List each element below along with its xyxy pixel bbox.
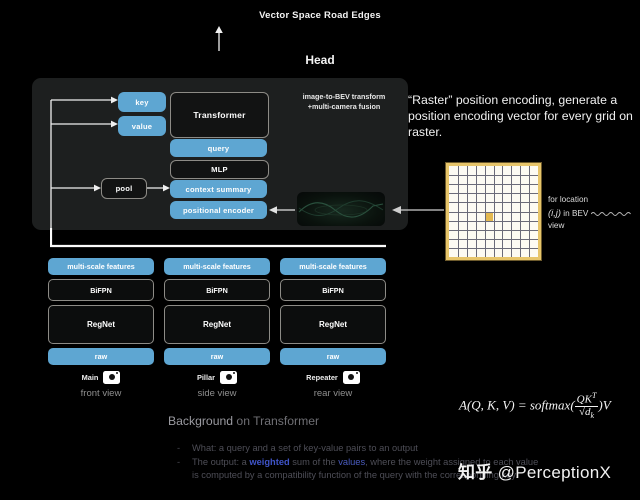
formula-lhs: A(Q, K, V) = softmax( [459,397,575,412]
output-label: Vector Space Road Edges [0,10,640,21]
squiggle-underline-icon [591,208,635,220]
view-name: side view [164,388,270,399]
camera-column-pillar: multi-scale features BiFPN RegNet raw Pi… [164,258,270,399]
cell-bifpn[interactable]: BiFPN [280,279,386,301]
grid-line-horizontal [449,184,538,185]
cell-regnet[interactable]: RegNet [280,305,386,344]
bullet-2-text-b: sum of the [290,457,339,467]
watermark-handle: @PerceptionX [498,463,611,482]
cell-regnet[interactable]: RegNet [48,305,154,344]
formula-fraction: QKT √dk [575,392,599,421]
formula-den-subscript: k [591,411,595,420]
bullet-marker: - [177,456,180,470]
camera-icon [103,371,120,384]
cell-multi-scale-features[interactable]: multi-scale features [164,258,270,275]
location-line1: for location [548,195,588,204]
location-ij: (i,j) [548,207,561,218]
watermark-zhihu: 知乎 [458,463,493,482]
node-positional-encoder[interactable]: positional encoder [170,201,267,219]
formula-denominator: √dk [575,406,599,421]
bullet-2-text-a: The output: a [192,457,249,467]
node-pool[interactable]: pool [101,178,147,199]
attention-formula: A(Q, K, V) = softmax( QKT √dk )V [459,392,611,421]
camera-row: Main [48,369,154,385]
node-query[interactable]: query [170,139,267,157]
cell-regnet[interactable]: RegNet [164,305,270,344]
watermark: 知乎 @PerceptionX [458,458,611,483]
grid-line-horizontal [449,175,538,176]
location-inbev: in BEV [563,209,588,218]
cell-raw[interactable]: raw [164,348,270,365]
cell-multi-scale-features[interactable]: multi-scale features [48,258,154,275]
cell-raw[interactable]: raw [280,348,386,365]
formula-rhs: )V [598,397,610,412]
grid-line-horizontal [449,212,538,213]
cell-multi-scale-features[interactable]: multi-scale features [280,258,386,275]
camera-icon [220,371,237,384]
grid-line-horizontal [449,239,538,240]
bullet-1: - What: a query and a set of key-value p… [192,442,640,456]
camera-name: Pillar [197,373,215,382]
up-arrow-icon [0,26,640,52]
node-value[interactable]: value [118,116,166,136]
camera-icon [343,371,360,384]
camera-column-repeater: multi-scale features BiFPN RegNet raw Re… [280,258,386,399]
grid-line-horizontal [449,202,538,203]
grid-line-horizontal [449,193,538,194]
formula-num-superscript: T [592,391,596,400]
slide-title-rest: on Transformer [233,414,319,428]
bullet-2-highlight-values: values [338,457,365,467]
view-name: front view [48,388,154,399]
location-line3: view [548,221,564,230]
camera-column-main: multi-scale features BiFPN RegNet raw Ma… [48,258,154,399]
node-key[interactable]: key [118,92,166,112]
location-annotation: for location (i,j) in BEV view [548,194,640,232]
bullet-2-highlight-weighted: weighted [249,457,289,467]
grid-line-horizontal [449,221,538,222]
slide-canvas: Vector Space Road Edges Head image-to-BE… [0,0,640,500]
slide-title-bold: Background [168,414,233,428]
node-mlp[interactable]: MLP [170,160,269,179]
grid-line-horizontal [449,248,538,249]
bev-raster-grid [446,163,541,260]
camera-row: Repeater [280,369,386,385]
formula-numerator: QKT [575,392,599,406]
panel-caption: image-to-BEV transform +multi-camera fus… [283,92,405,111]
cell-bifpn[interactable]: BiFPN [164,279,270,301]
node-context-summary[interactable]: context summary [170,180,267,198]
camera-row: Pillar [164,369,270,385]
bev-raster-grid-inner [449,166,538,257]
connector-arrows [0,0,640,500]
panel-caption-line2: +multi-camera fusion [308,102,381,111]
bullet-marker: - [177,442,180,456]
feature-bus-line [50,228,386,248]
node-transformer[interactable]: Transformer [170,92,269,138]
grid-highlight-cell [485,212,494,221]
grid-line-horizontal [449,230,538,231]
camera-name: Repeater [306,373,338,382]
cell-bifpn[interactable]: BiFPN [48,279,154,301]
cell-raw[interactable]: raw [48,348,154,365]
view-name: rear view [280,388,386,399]
slide-title: Background on Transformer [168,414,319,428]
bullet-1-text: What: a query and a set of key-value pai… [192,443,418,453]
raster-annotation-text: “Raster” position encoding, generate a p… [408,92,640,141]
head-module-label: Head [0,53,640,67]
sinusoid-wave-thumbnail [297,192,385,226]
panel-caption-line1: image-to-BEV transform [303,92,386,101]
camera-name: Main [82,373,99,382]
